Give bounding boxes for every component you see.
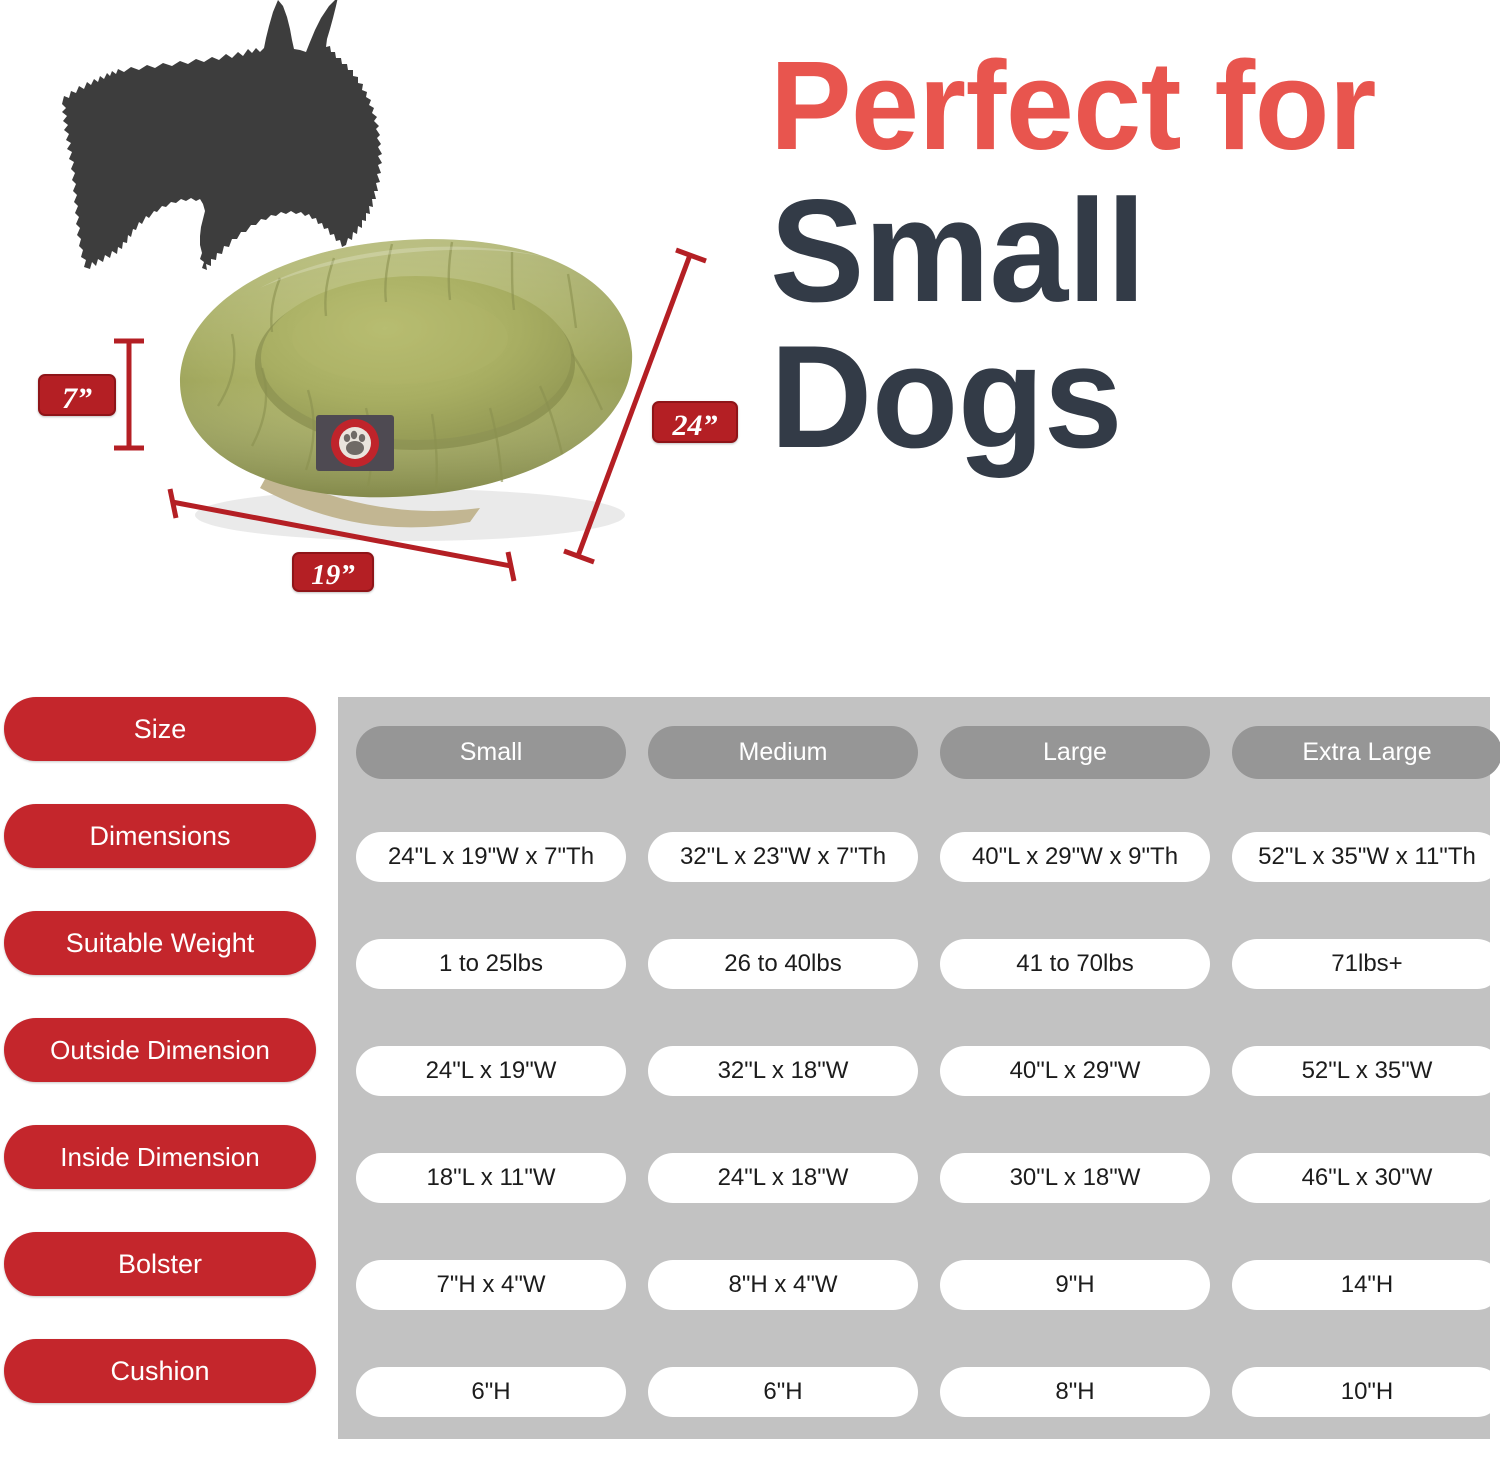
row-label-size: Size bbox=[4, 697, 316, 761]
row-label-outside-dimension: Outside Dimension bbox=[4, 1018, 316, 1082]
callout-width-19in: 19” bbox=[292, 552, 374, 592]
table-cell-dimensions-medium: 32"L x 23"W x 7"Th bbox=[648, 832, 918, 882]
headline-line-2: Small bbox=[770, 181, 1468, 321]
table-cell-weight-medium: 26 to 40lbs bbox=[648, 939, 918, 989]
hero-section: Perfect for Small Dogs 7” 24” 19” bbox=[0, 0, 1500, 690]
table-cell-weight-small: 1 to 25lbs bbox=[356, 939, 626, 989]
table-cell-inside-extra-large: 46"L x 30"W bbox=[1232, 1153, 1500, 1203]
table-cell-outside-medium: 32"L x 18"W bbox=[648, 1046, 918, 1096]
table-cell-inside-medium: 24"L x 18"W bbox=[648, 1153, 918, 1203]
row-label-suitable-weight: Suitable Weight bbox=[4, 911, 316, 975]
table-cell-outside-small: 24"L x 19"W bbox=[356, 1046, 626, 1096]
row-label-bolster: Bolster bbox=[4, 1232, 316, 1296]
table-cell-bolster-extra-large: 14"H bbox=[1232, 1260, 1500, 1310]
spec-row-label-column: Size Dimensions Suitable Weight Outside … bbox=[4, 697, 316, 1439]
table-cell-weight-extra-large: 71lbs+ bbox=[1232, 939, 1500, 989]
headline-line-1: Perfect for bbox=[770, 46, 1468, 167]
table-cell-dimensions-extra-large: 52"L x 35"W x 11"Th bbox=[1232, 832, 1500, 882]
row-label-inside-dimension: Inside Dimension bbox=[4, 1125, 316, 1189]
table-cell-bolster-medium: 8"H x 4"W bbox=[648, 1260, 918, 1310]
dog-bed-product-image bbox=[120, 170, 680, 570]
table-cell-dimensions-large: 40"L x 29"W x 9"Th bbox=[940, 832, 1210, 882]
table-cell-cushion-large: 8"H bbox=[940, 1367, 1210, 1417]
table-cell-cushion-medium: 6"H bbox=[648, 1367, 918, 1417]
table-cell-outside-extra-large: 52"L x 35"W bbox=[1232, 1046, 1500, 1096]
table-cell-weight-large: 41 to 70lbs bbox=[940, 939, 1210, 989]
headline-line-3: Dogs bbox=[770, 327, 1468, 467]
majestic-pet-brand-tag bbox=[316, 415, 394, 471]
table-cell-inside-large: 30"L x 18"W bbox=[940, 1153, 1210, 1203]
callout-length-24in: 24” bbox=[652, 401, 738, 443]
column-header-large: Large bbox=[940, 726, 1210, 779]
column-header-medium: Medium bbox=[648, 726, 918, 779]
row-label-cushion: Cushion bbox=[4, 1339, 316, 1403]
table-cell-inside-small: 18"L x 11"W bbox=[356, 1153, 626, 1203]
spec-table-panel: Small Medium Large Extra Large 24"L x 19… bbox=[338, 697, 1490, 1439]
table-cell-dimensions-small: 24"L x 19"W x 7"Th bbox=[356, 832, 626, 882]
callout-thickness-7in: 7” bbox=[38, 374, 116, 416]
table-cell-cushion-small: 6"H bbox=[356, 1367, 626, 1417]
product-size-guide-infographic: Perfect for Small Dogs 7” 24” 19” Size D… bbox=[0, 0, 1500, 1458]
table-cell-bolster-large: 9"H bbox=[940, 1260, 1210, 1310]
headline-block: Perfect for Small Dogs bbox=[770, 46, 1490, 467]
column-header-extra-large: Extra Large bbox=[1232, 726, 1500, 779]
table-cell-outside-large: 40"L x 29"W bbox=[940, 1046, 1210, 1096]
table-cell-cushion-extra-large: 10"H bbox=[1232, 1367, 1500, 1417]
table-cell-bolster-small: 7"H x 4"W bbox=[356, 1260, 626, 1310]
column-header-small: Small bbox=[356, 726, 626, 779]
row-label-dimensions: Dimensions bbox=[4, 804, 316, 868]
